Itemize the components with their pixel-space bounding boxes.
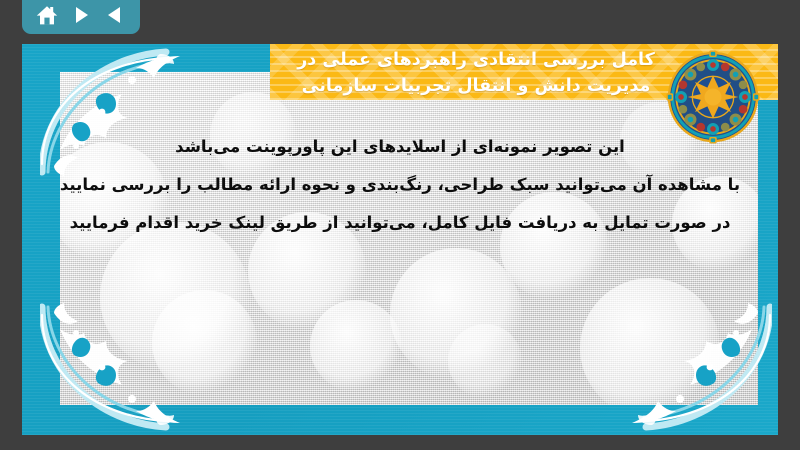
slide-title: کامل بررسی انتقادی راهبردهای عملی در مدی… [270, 44, 778, 99]
slide-title-banner: کامل بررسی انتقادی راهبردهای عملی در مدی… [270, 44, 778, 100]
home-icon [36, 5, 58, 26]
home-button[interactable] [34, 2, 60, 28]
navigation-bar [22, 0, 140, 34]
bokeh-circle [448, 324, 522, 398]
body-line-2: با مشاهده آن می‌توانید سبک طراحی، رنگ‌بن… [56, 166, 744, 204]
body-line-1: این تصویر نمونه‌ای از اسلایدهای این پاور… [56, 128, 744, 166]
presentation-slide: کامل بررسی انتقادی راهبردهای عملی در مدی… [22, 44, 778, 435]
forward-button[interactable] [68, 2, 94, 28]
slide-viewer: کامل بررسی انتقادی راهبردهای عملی در مدی… [0, 0, 800, 450]
back-button[interactable] [102, 2, 128, 28]
bokeh-circle [580, 278, 720, 405]
bokeh-circle [100, 222, 250, 372]
bokeh-circle [310, 300, 402, 392]
bokeh-circle [390, 248, 522, 380]
slide-body-text: این تصویر نمونه‌ای از اسلایدهای این پاور… [56, 128, 744, 242]
bokeh-circle [152, 290, 257, 395]
triangle-left-icon [105, 5, 125, 25]
triangle-right-icon [71, 5, 91, 25]
body-line-3: در صورت تمایل به دریافت فایل کامل، می‌تو… [56, 204, 744, 242]
